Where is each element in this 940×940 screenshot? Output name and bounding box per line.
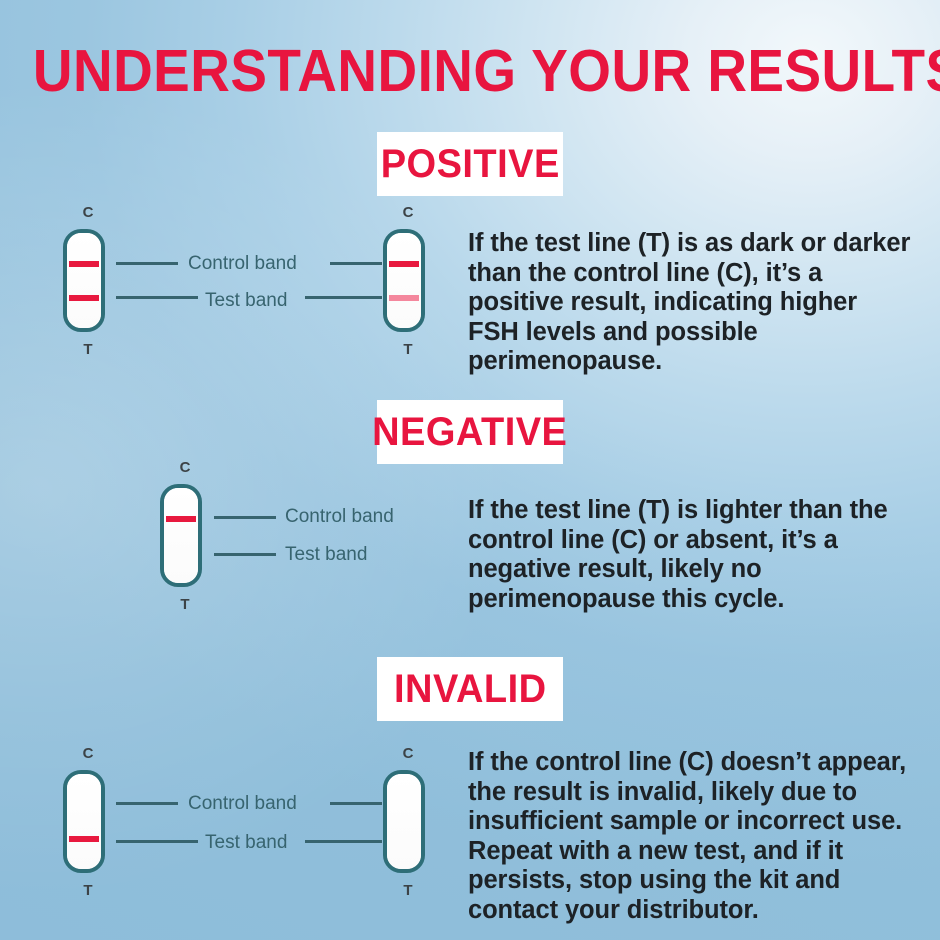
strip-negative-center: C T (160, 484, 202, 587)
connector-line-control-left (116, 262, 178, 265)
description-positive: If the test line (T) is as dark or darke… (468, 229, 912, 377)
badge-positive-label: POSITIVE (380, 142, 559, 187)
description-negative: If the test line (T) is lighter than the… (468, 496, 912, 614)
connector-line-test-left (116, 840, 198, 843)
connector-line-control-left (116, 802, 178, 805)
connector-line-test-right (305, 840, 382, 843)
strip-window (67, 233, 101, 328)
strip-body (383, 229, 425, 332)
connector-label-test: Test band (285, 545, 367, 564)
connector-line-test-right (214, 553, 276, 556)
strip-window (164, 488, 198, 583)
strip-invalid-right: C T (383, 770, 425, 873)
connector-label-test: Test band (205, 833, 287, 852)
control-band-indicator (166, 516, 196, 522)
connector-line-control-right (330, 802, 382, 805)
connector-label-control: Control band (188, 794, 297, 813)
connector-line-control-right (330, 262, 382, 265)
strip-cap-t: T (383, 342, 433, 357)
strip-positive-right: C T (383, 229, 425, 332)
control-band-indicator (389, 261, 419, 267)
description-invalid: If the control line (C) doesn’t appear, … (468, 748, 920, 925)
test-band-indicator (69, 836, 99, 842)
test-band-indicator (389, 295, 419, 301)
connector-label-control: Control band (188, 254, 297, 273)
strip-body (160, 484, 202, 587)
strip-cap-c: C (63, 205, 113, 220)
strip-window (387, 774, 421, 869)
connector-line-control-right (214, 516, 276, 519)
strip-cap-t: T (383, 883, 433, 898)
strip-body (383, 770, 425, 873)
strip-cap-t: T (63, 883, 113, 898)
connector-label-test: Test band (205, 291, 287, 310)
strip-invalid-left: C T (63, 770, 105, 873)
connector-label-control: Control band (285, 507, 394, 526)
strip-body (63, 229, 105, 332)
strip-cap-c: C (383, 746, 433, 761)
badge-invalid-label: INVALID (394, 667, 547, 712)
strip-cap-c: C (160, 460, 210, 475)
badge-negative-label: NEGATIVE (372, 410, 567, 455)
strip-cap-t: T (63, 342, 113, 357)
strip-window (67, 774, 101, 869)
strip-cap-c: C (383, 205, 433, 220)
strip-body (63, 770, 105, 873)
strip-window (387, 233, 421, 328)
page-title: UNDERSTANDING YOUR RESULTS (33, 40, 907, 102)
test-band-indicator (69, 295, 99, 301)
control-band-indicator (69, 261, 99, 267)
strip-positive-left: C T (63, 229, 105, 332)
connector-line-test-left (116, 296, 198, 299)
badge-negative: NEGATIVE (377, 400, 563, 464)
connector-line-test-right (305, 296, 382, 299)
strip-cap-c: C (63, 746, 113, 761)
badge-invalid: INVALID (377, 657, 563, 721)
strip-cap-t: T (160, 597, 210, 612)
infographic-canvas: UNDERSTANDING YOUR RESULTS POSITIVE C T … (0, 0, 940, 940)
badge-positive: POSITIVE (377, 132, 563, 196)
